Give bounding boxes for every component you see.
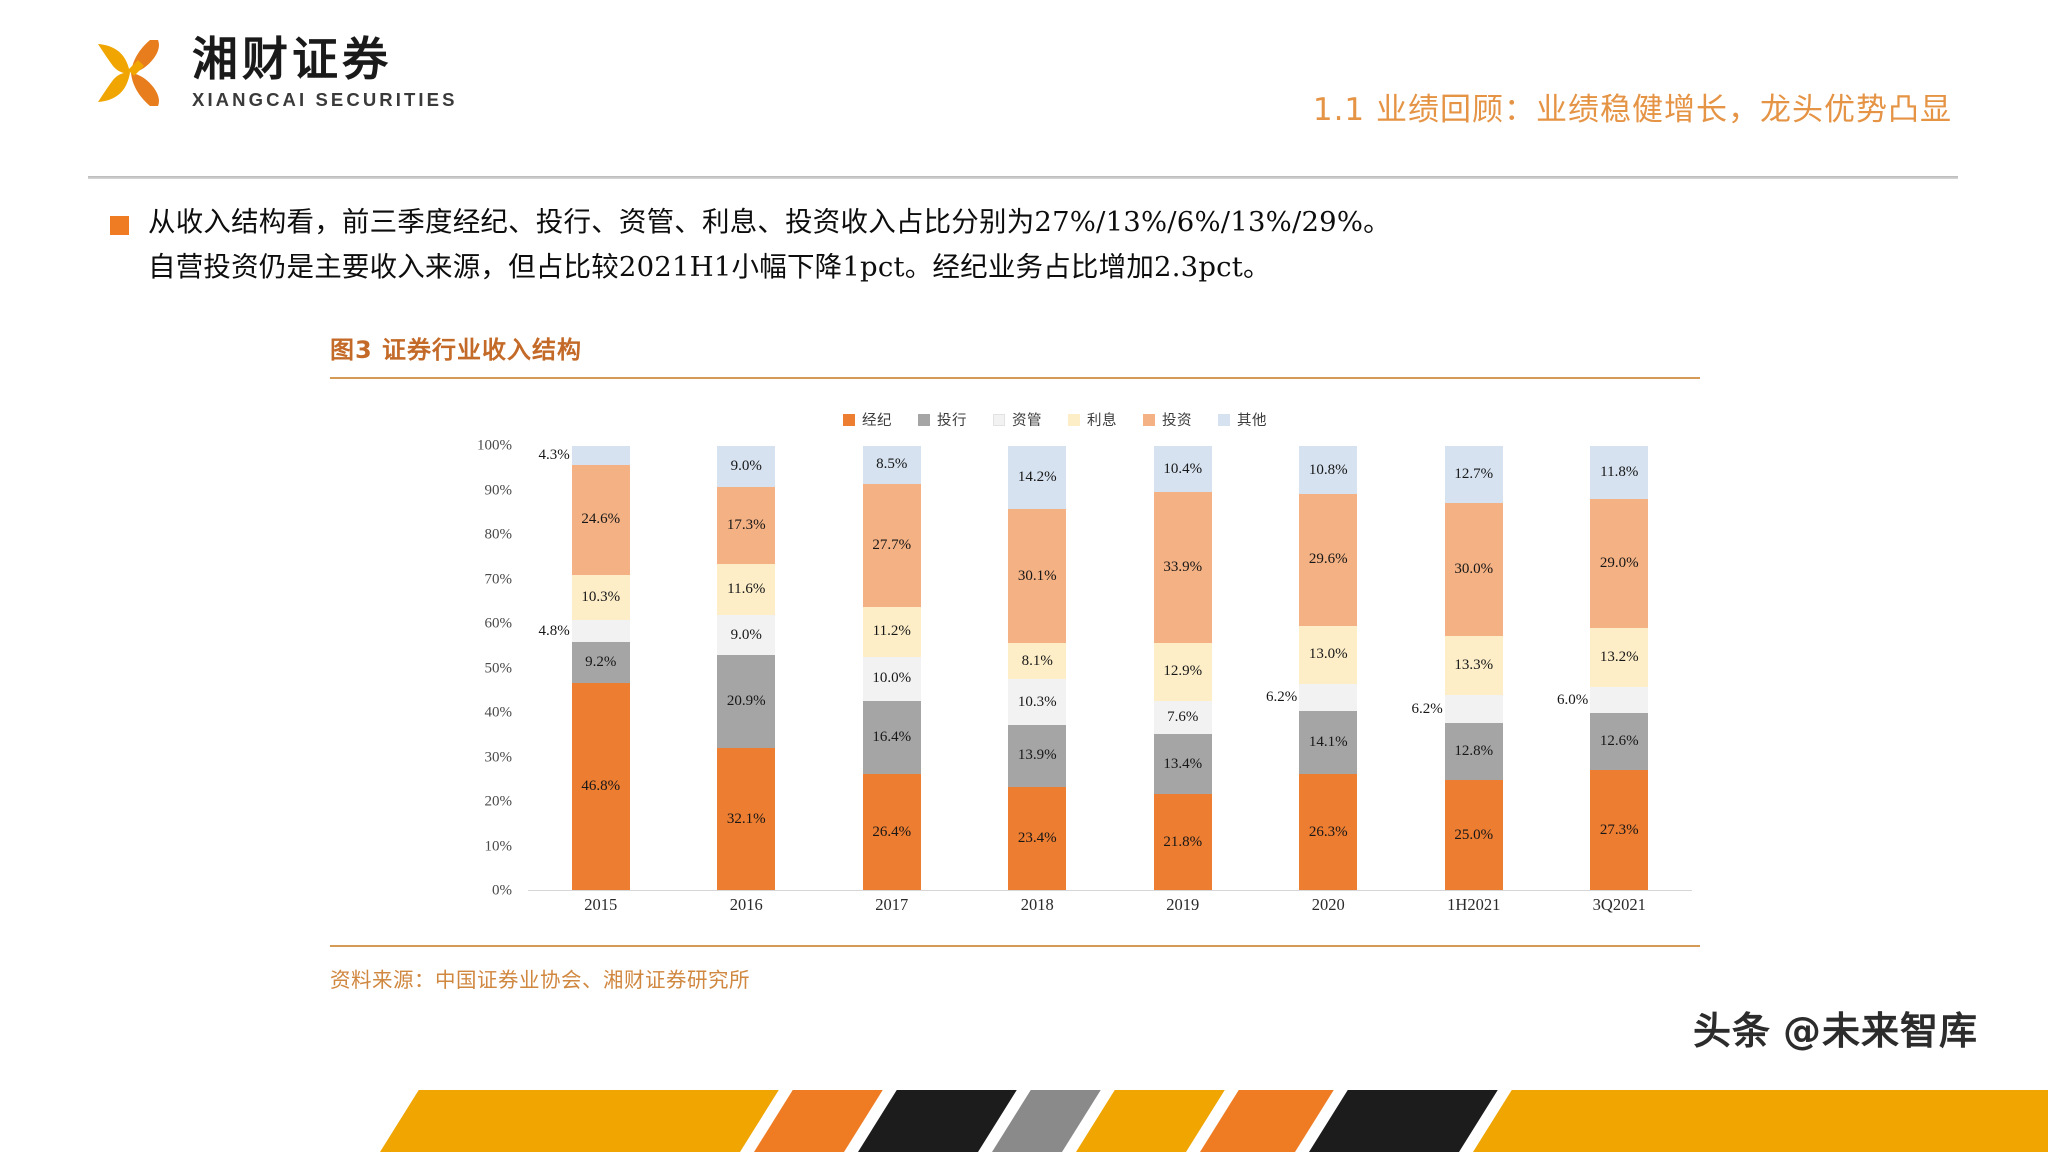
x-axis-label: 2020	[1256, 895, 1402, 915]
bar-segment-经纪[interactable]: 23.4%	[1008, 787, 1066, 891]
bar-segment-label: 6.2%	[1266, 689, 1297, 706]
bar-segment-投资[interactable]: 29.0%	[1590, 499, 1648, 628]
footer-stripe	[858, 1090, 1017, 1152]
bar-segment-label: 17.3%	[727, 517, 766, 534]
legend-label: 投资	[1162, 409, 1192, 430]
logo-name-en: XIANGCAI SECURITIES	[192, 89, 458, 111]
bar-segment-其他[interactable]: 10.4%	[1154, 446, 1212, 492]
bar-segment-其他[interactable]: 10.8%	[1299, 446, 1357, 494]
y-axis-tick: 0%	[492, 883, 512, 900]
bar-segment-label: 12.7%	[1454, 466, 1493, 483]
y-axis-tick: 50%	[485, 660, 513, 677]
chart-bars: 46.8%9.2%4.8%10.3%24.6%4.3%32.1%20.9%9.0…	[528, 446, 1692, 891]
paragraph-line-2: 自营投资仍是主要收入来源，但占比较2021H1小幅下降1pct。经纪业务占比增加…	[148, 245, 1391, 290]
bar-segment-label: 13.9%	[1018, 747, 1057, 764]
bar-segment-投资[interactable]: 27.7%	[863, 484, 921, 607]
bar-segment-label: 27.7%	[872, 537, 911, 554]
bar-segment-label: 10.3%	[1018, 694, 1057, 711]
x-axis-label: 2019	[1110, 895, 1256, 915]
bar-segment-label: 13.0%	[1309, 646, 1348, 663]
bar-segment-label: 13.3%	[1454, 657, 1493, 674]
header-divider	[88, 176, 1958, 179]
x-axis-label: 1H2021	[1401, 895, 1547, 915]
body-text-block: 从收入结构看，前三季度经纪、投行、资管、利息、投资收入占比分别为27%/13%/…	[110, 200, 1950, 289]
bar-stack: 26.3%14.1%6.2%13.0%29.6%10.8%	[1299, 446, 1357, 891]
bar-group-2015[interactable]: 46.8%9.2%4.8%10.3%24.6%4.3%	[528, 446, 674, 891]
x-axis-label: 3Q2021	[1547, 895, 1693, 915]
y-axis-tick: 100%	[477, 438, 512, 455]
bar-segment-label: 6.0%	[1557, 692, 1588, 709]
bar-segment-利息[interactable]: 11.2%	[863, 607, 921, 657]
bar-segment-label: 30.1%	[1018, 568, 1057, 585]
y-axis-tick: 40%	[485, 705, 513, 722]
watermark: 头条 @未来智库	[1693, 1000, 1978, 1055]
bar-segment-经纪[interactable]: 46.8%	[572, 683, 630, 891]
bar-group-2019[interactable]: 21.8%13.4%7.6%12.9%33.9%10.4%	[1110, 446, 1256, 891]
paragraph-line-1: 从收入结构看，前三季度经纪、投行、资管、利息、投资收入占比分别为27%/13%/…	[148, 200, 1391, 245]
bar-segment-投行[interactable]: 12.8%	[1445, 723, 1503, 780]
bar-segment-投资[interactable]: 29.6%	[1299, 494, 1357, 626]
bar-segment-label: 4.8%	[539, 623, 570, 640]
bar-group-2017[interactable]: 26.4%16.4%10.0%11.2%27.7%8.5%	[819, 446, 965, 891]
y-axis-tick: 60%	[485, 616, 513, 633]
bar-segment-经纪[interactable]: 27.3%	[1590, 770, 1648, 891]
y-axis-tick: 70%	[485, 571, 513, 588]
bar-segment-label: 4.3%	[539, 447, 570, 464]
bar-segment-其他[interactable]: 14.2%	[1008, 446, 1066, 509]
legend-swatch-icon	[1143, 414, 1155, 426]
bar-segment-label: 24.6%	[581, 511, 620, 528]
footer-stripes	[0, 1090, 2048, 1152]
bar-segment-投资[interactable]: 30.0%	[1445, 503, 1503, 637]
bar-segment-投行[interactable]: 14.1%	[1299, 711, 1357, 774]
bullet-square-icon	[110, 216, 129, 235]
y-axis-tick: 80%	[485, 527, 513, 544]
bar-segment-资管[interactable]: 4.8%	[572, 620, 630, 641]
bar-segment-投行[interactable]: 12.6%	[1590, 713, 1648, 769]
footer-stripe	[1473, 1090, 2048, 1152]
bar-stack: 23.4%13.9%10.3%8.1%30.1%14.2%	[1008, 446, 1066, 891]
bar-segment-label: 25.0%	[1454, 827, 1493, 844]
bar-segment-label: 29.0%	[1600, 555, 1639, 572]
bar-segment-其他[interactable]: 8.5%	[863, 446, 921, 484]
bar-segment-label: 10.8%	[1309, 462, 1348, 479]
x-axis-labels: 2015201620172018201920201H20213Q2021	[528, 895, 1692, 915]
legend-label: 利息	[1087, 409, 1117, 430]
bar-segment-label: 14.1%	[1309, 734, 1348, 751]
y-axis-tick: 90%	[485, 482, 513, 499]
bar-segment-其他[interactable]: 9.0%	[717, 446, 775, 486]
bar-segment-投行[interactable]: 20.9%	[717, 655, 775, 748]
bar-segment-投行[interactable]: 9.2%	[572, 642, 630, 683]
legend-item-投行[interactable]: 投行	[918, 409, 967, 430]
bar-segment-其他[interactable]: 4.3%	[572, 446, 630, 465]
bar-segment-label: 6.2%	[1412, 701, 1443, 718]
bar-segment-投行[interactable]: 16.4%	[863, 701, 921, 774]
x-axis-label: 2016	[674, 895, 820, 915]
legend-item-其他[interactable]: 其他	[1218, 409, 1267, 430]
bar-segment-资管[interactable]: 6.2%	[1299, 684, 1357, 712]
bar-segment-label: 33.9%	[1163, 559, 1202, 576]
brand-logo: 湘财证券 XIANGCAI SECURITIES	[88, 30, 458, 116]
bar-segment-经纪[interactable]: 32.1%	[717, 748, 775, 891]
legend-item-资管[interactable]: 资管	[993, 409, 1042, 430]
chart-legend: 经纪投行资管利息投资其他	[400, 409, 1710, 430]
bar-segment-label: 12.8%	[1454, 743, 1493, 760]
bar-segment-资管[interactable]: 6.0%	[1590, 687, 1648, 714]
legend-label: 投行	[937, 409, 967, 430]
legend-label: 经纪	[862, 409, 892, 430]
bar-segment-label: 23.4%	[1018, 830, 1057, 847]
bar-segment-label: 9.2%	[585, 654, 616, 671]
figure-title: 图3 证券行业收入结构	[330, 330, 1710, 377]
legend-swatch-icon	[1218, 414, 1230, 426]
bar-segment-label: 10.0%	[872, 670, 911, 687]
watermark-handle: @未来智库	[1783, 1000, 1978, 1055]
bar-segment-资管[interactable]: 7.6%	[1154, 701, 1212, 735]
bar-segment-label: 21.8%	[1163, 834, 1202, 851]
logo-name-cn: 湘财证券	[192, 35, 458, 85]
legend-item-经纪[interactable]: 经纪	[843, 409, 892, 430]
bar-group-2018[interactable]: 23.4%13.9%10.3%8.1%30.1%14.2%	[965, 446, 1111, 891]
bar-segment-投行[interactable]: 13.9%	[1008, 725, 1066, 787]
legend-swatch-icon	[918, 414, 930, 426]
bar-group-1H2021[interactable]: 25.0%12.8%6.2%13.3%30.0%12.7%	[1401, 446, 1547, 891]
bar-segment-经纪[interactable]: 26.4%	[863, 774, 921, 891]
bar-stack: 21.8%13.4%7.6%12.9%33.9%10.4%	[1154, 446, 1212, 891]
bar-segment-资管[interactable]: 10.3%	[1008, 679, 1066, 725]
bar-segment-利息[interactable]: 13.3%	[1445, 636, 1503, 695]
bar-segment-label: 26.3%	[1309, 824, 1348, 841]
footer-stripe	[380, 1090, 779, 1152]
bar-segment-label: 46.8%	[581, 778, 620, 795]
figure-source-note: 资料来源：中国证券业协会、湘财证券研究所	[330, 947, 1710, 993]
bar-stack: 32.1%20.9%9.0%11.6%17.3%9.0%	[717, 446, 775, 891]
bar-segment-利息[interactable]: 11.6%	[717, 564, 775, 616]
bar-segment-label: 29.6%	[1309, 551, 1348, 568]
bar-segment-投资[interactable]: 30.1%	[1008, 509, 1066, 643]
bar-segment-投资[interactable]: 33.9%	[1154, 492, 1212, 643]
bar-segment-经纪[interactable]: 21.8%	[1154, 794, 1212, 891]
bar-segment-label: 12.6%	[1600, 733, 1639, 750]
bar-segment-利息[interactable]: 10.3%	[572, 575, 630, 621]
bar-segment-利息[interactable]: 13.0%	[1299, 626, 1357, 684]
bar-segment-label: 27.3%	[1600, 822, 1639, 839]
bar-segment-label: 9.0%	[731, 627, 762, 644]
bar-segment-label: 11.8%	[1600, 464, 1638, 481]
bar-stack: 46.8%9.2%4.8%10.3%24.6%4.3%	[572, 446, 630, 891]
bar-segment-其他[interactable]: 12.7%	[1445, 446, 1503, 503]
bar-segment-经纪[interactable]: 26.3%	[1299, 774, 1357, 891]
bar-segment-利息[interactable]: 8.1%	[1008, 643, 1066, 679]
chart-plot-area: 0%10%20%30%40%50%60%70%80%90%100% 46.8%9…	[330, 446, 1710, 891]
footer-stripe	[1076, 1090, 1225, 1152]
bar-group-2020[interactable]: 26.3%14.1%6.2%13.0%29.6%10.8%	[1256, 446, 1402, 891]
bar-segment-投资[interactable]: 17.3%	[717, 487, 775, 564]
bar-group-2016[interactable]: 32.1%20.9%9.0%11.6%17.3%9.0%	[674, 446, 820, 891]
legend-label: 资管	[1012, 409, 1042, 430]
bar-segment-label: 8.1%	[1022, 653, 1053, 670]
bar-segment-投资[interactable]: 24.6%	[572, 465, 630, 574]
bar-segment-资管[interactable]: 9.0%	[717, 615, 775, 655]
bar-segment-label: 12.9%	[1163, 663, 1202, 680]
legend-item-投资[interactable]: 投资	[1143, 409, 1192, 430]
bar-segment-label: 30.0%	[1454, 561, 1493, 578]
x-axis-label: 2017	[819, 895, 965, 915]
watermark-tag: 头条	[1693, 1000, 1771, 1055]
bar-segment-经纪[interactable]: 25.0%	[1445, 780, 1503, 891]
bar-segment-label: 13.4%	[1163, 756, 1202, 773]
bar-segment-其他[interactable]: 11.8%	[1590, 446, 1648, 499]
bar-segment-label: 13.2%	[1600, 649, 1639, 666]
legend-label: 其他	[1237, 409, 1267, 430]
bar-segment-label: 32.1%	[727, 811, 766, 828]
x-axis-baseline	[528, 890, 1692, 892]
figure-block: 图3 证券行业收入结构 经纪投行资管利息投资其他 0%10%20%30%40%5…	[330, 330, 1710, 993]
bar-segment-label: 8.5%	[876, 456, 907, 473]
y-axis: 0%10%20%30%40%50%60%70%80%90%100%	[460, 446, 520, 891]
bar-segment-label: 11.2%	[873, 623, 911, 640]
legend-swatch-icon	[843, 414, 855, 426]
bar-segment-label: 10.4%	[1163, 461, 1202, 478]
slide-header: 湘财证券 XIANGCAI SECURITIES 1.1 业绩回顾：业绩稳健增长…	[0, 0, 2048, 180]
bar-stack: 26.4%16.4%10.0%11.2%27.7%8.5%	[863, 446, 921, 891]
bar-segment-投行[interactable]: 13.4%	[1154, 734, 1212, 794]
bar-segment-label: 7.6%	[1167, 709, 1198, 726]
bar-segment-label: 14.2%	[1018, 469, 1057, 486]
x-axis-label: 2018	[965, 895, 1111, 915]
y-axis-tick: 10%	[485, 838, 513, 855]
bar-segment-label: 9.0%	[731, 458, 762, 475]
legend-swatch-icon	[993, 414, 1005, 426]
bar-segment-label: 16.4%	[872, 729, 911, 746]
bar-segment-资管[interactable]: 6.2%	[1445, 695, 1503, 723]
bar-group-3Q2021[interactable]: 27.3%12.6%6.0%13.2%29.0%11.8%	[1547, 446, 1693, 891]
bar-segment-利息[interactable]: 12.9%	[1154, 643, 1212, 700]
bar-stack: 25.0%12.8%6.2%13.3%30.0%12.7%	[1445, 446, 1503, 891]
xiangcai-logo-icon	[88, 30, 174, 116]
bar-stack: 27.3%12.6%6.0%13.2%29.0%11.8%	[1590, 446, 1648, 891]
paragraph: 从收入结构看，前三季度经纪、投行、资管、利息、投资收入占比分别为27%/13%/…	[148, 200, 1391, 289]
legend-item-利息[interactable]: 利息	[1068, 409, 1117, 430]
bar-segment-label: 26.4%	[872, 824, 911, 841]
y-axis-tick: 20%	[485, 794, 513, 811]
footer-stripe	[1309, 1090, 1498, 1152]
bar-segment-label: 20.9%	[727, 693, 766, 710]
bar-segment-label: 10.3%	[581, 589, 620, 606]
figure-top-divider	[330, 377, 1700, 379]
x-axis-label: 2015	[528, 895, 674, 915]
bar-segment-利息[interactable]: 13.2%	[1590, 628, 1648, 687]
legend-swatch-icon	[1068, 414, 1080, 426]
bar-segment-资管[interactable]: 10.0%	[863, 657, 921, 701]
page-title: 1.1 业绩回顾：业绩稳健增长，龙头优势凸显	[1313, 84, 1952, 129]
bar-segment-label: 11.6%	[727, 581, 765, 598]
y-axis-tick: 30%	[485, 749, 513, 766]
